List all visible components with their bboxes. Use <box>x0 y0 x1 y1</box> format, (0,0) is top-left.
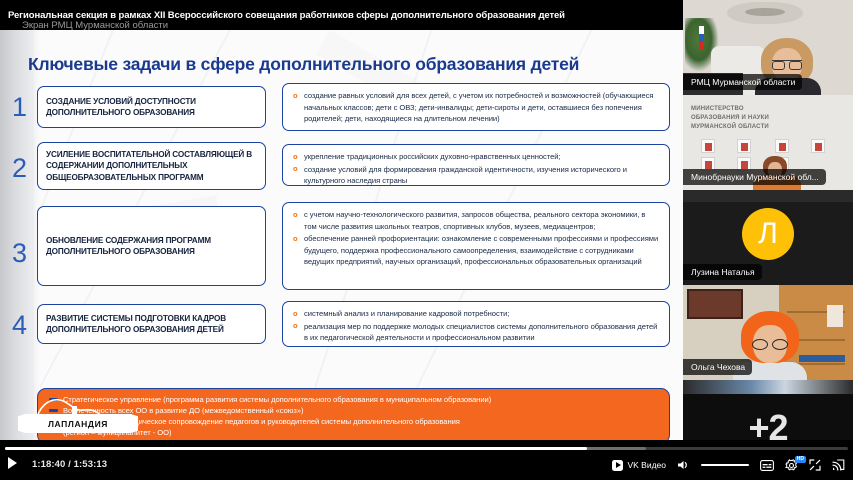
lapland-logo: ЛАПЛАНДИЯ <box>18 388 138 440</box>
task-heading-4: РАЗВИТИЕ СИСТЕМЫ ПОДГОТОВКИ КАДРОВ ДОПОЛ… <box>46 313 257 335</box>
task-detail-box-3: с учетом научно-технологического развити… <box>282 202 670 290</box>
backdrop-text: МИНИСТЕРСТВООБРАЗОВАНИЯ И НАУКИМУРМАНСКО… <box>691 105 769 132</box>
play-button[interactable] <box>8 457 20 470</box>
play-icon <box>8 457 17 469</box>
bullet-item: реализация мер по поддержке молодых спец… <box>291 321 660 344</box>
participant-tile-luzina[interactable]: Л Лузина Наталья <box>683 190 853 285</box>
task-number-1: 1 <box>12 94 27 121</box>
meeting-title: Региональная секция в рамках XII Всеросс… <box>8 10 668 21</box>
avatar: Л <box>742 208 794 260</box>
summary-item: Трёхуровневое методическое сопровождение… <box>48 416 659 427</box>
task-heading-box-2: УСИЛЕНИЕ ВОСПИТАТЕЛЬНОЙ СОСТАВЛЯЮЩЕЙ В С… <box>37 142 266 190</box>
task-bullets-1: создание равных условий для всех детей, … <box>291 90 660 125</box>
shelf-box-decor <box>827 305 843 327</box>
volume-slider[interactable] <box>701 464 749 467</box>
video-player-controls[interactable]: 1:18:40 / 1:53:13 VK Видео <box>0 440 853 480</box>
bullet-item: укрепление традиционных российских духов… <box>291 151 660 163</box>
screen-share-label: Экран РМЦ Мурманской области <box>22 20 422 31</box>
task-heading-1: СОЗДАНИЕ УСЛОВИЙ ДОСТУПНОСТИ ДОПОЛНИТЕЛЬ… <box>46 96 257 118</box>
task-number-2: 2 <box>12 155 27 182</box>
task-bullets-3: с учетом научно-технологического развити… <box>291 209 660 268</box>
task-heading-box-4: РАЗВИТИЕ СИСТЕМЫ ПОДГОТОВКИ КАДРОВ ДОПОЛ… <box>37 304 266 344</box>
task-bullets-4: системный анализ и планирование кадровой… <box>291 308 660 344</box>
participant-name: РМЦ Мурманской области <box>683 74 802 90</box>
minimize-icon[interactable] <box>809 459 821 471</box>
app-root: Региональная секция в рамках XII Всеросс… <box>0 0 853 480</box>
wall-emblem-icon <box>727 2 803 24</box>
task-heading-2: УСИЛЕНИЕ ВОСПИТАТЕЛЬНОЙ СОСТАВЛЯЮЩЕЙ В С… <box>46 149 257 182</box>
task-heading-3: ОБНОВЛЕНИЕ СОДЕРЖАНИЯ ПРОГРАММ ДОПОЛНИТЕ… <box>46 235 257 257</box>
time-display: 1:18:40 / 1:53:13 <box>32 459 107 470</box>
summary-item-continuation: (регион – муниципалитет - ОО) <box>48 427 659 438</box>
cast-icon[interactable] <box>832 459 845 471</box>
participant-sidebar[interactable]: РМЦ Мурманской области МИНИСТЕРСТВООБРАЗ… <box>683 0 853 480</box>
progress-played <box>5 447 587 450</box>
quality-badge: HD <box>795 456 806 463</box>
summary-list: Стратегическое управление (программа раз… <box>48 394 659 438</box>
task-heading-box-3: ОБНОВЛЕНИЕ СОДЕРЖАНИЯ ПРОГРАММ ДОПОЛНИТЕ… <box>37 206 266 286</box>
slide-title: Ключевые задачи в сфере дополнительного … <box>28 54 579 75</box>
participant-tile-minobrnauki[interactable]: МИНИСТЕРСТВООБРАЗОВАНИЯ И НАУКИМУРМАНСКО… <box>683 95 853 190</box>
player-right-controls[interactable]: VK Видео <box>612 456 845 474</box>
vk-play-badge-icon <box>612 460 623 471</box>
shared-screen-stage[interactable]: Региональная секция в рамках XII Всеросс… <box>0 0 683 480</box>
bullet-item: создание равных условий для всех детей, … <box>291 90 660 125</box>
task-detail-box-4: системный анализ и планирование кадровой… <box>282 301 670 347</box>
summary-item: Стратегическое управление (программа раз… <box>48 394 659 405</box>
task-detail-box-2: укрепление традиционных российских духов… <box>282 144 670 186</box>
task-number-3: 3 <box>12 240 27 267</box>
participant-tile-rmc[interactable]: РМЦ Мурманской области <box>683 0 853 95</box>
participant-tile-chekhova[interactable]: Ольга Чехова <box>683 285 853 380</box>
task-heading-box-1: СОЗДАНИЕ УСЛОВИЙ ДОСТУПНОСТИ ДОПОЛНИТЕЛЬ… <box>37 86 266 128</box>
volume-icon[interactable] <box>677 459 690 471</box>
task-bullets-2: укрепление традиционных российских духов… <box>291 151 660 187</box>
bullet-item: системный анализ и планирование кадровой… <box>291 308 660 320</box>
bullet-item: с учетом научно-технологического развити… <box>291 209 660 232</box>
presentation-slide: Ключевые задачи в сфере дополнительного … <box>0 30 683 440</box>
task-number-4: 4 <box>12 312 27 339</box>
participant-name: Ольга Чехова <box>683 359 752 375</box>
subtitles-icon[interactable] <box>760 460 774 471</box>
settings-button[interactable]: HD <box>785 459 798 472</box>
vk-video-logo[interactable]: VK Видео <box>612 460 666 471</box>
glasses-icon <box>772 60 802 67</box>
lapland-logo-text: ЛАПЛАНДИЯ <box>48 419 108 429</box>
summary-item: Вовлеченность всех ОО в развитие ДО (меж… <box>48 405 659 416</box>
participant-name: Минобрнауки Мурманской обл... <box>683 169 826 185</box>
lapland-ribbon: ЛАПЛАНДИЯ <box>18 414 138 433</box>
bullet-item: обеспечение ранней профориентации: ознак… <box>291 233 660 268</box>
flag-decor <box>699 26 704 50</box>
bullet-item: создание условий для формирования гражда… <box>291 164 660 187</box>
vk-video-label: VK Видео <box>627 460 666 470</box>
book-decor <box>799 355 845 362</box>
task-detail-box-1: создание равных условий для всех детей, … <box>282 83 670 131</box>
wall-picture-decor <box>687 289 743 319</box>
progress-bar[interactable] <box>5 447 848 450</box>
participant-name: Лузина Наталья <box>683 264 762 280</box>
glasses-icon <box>752 339 788 348</box>
